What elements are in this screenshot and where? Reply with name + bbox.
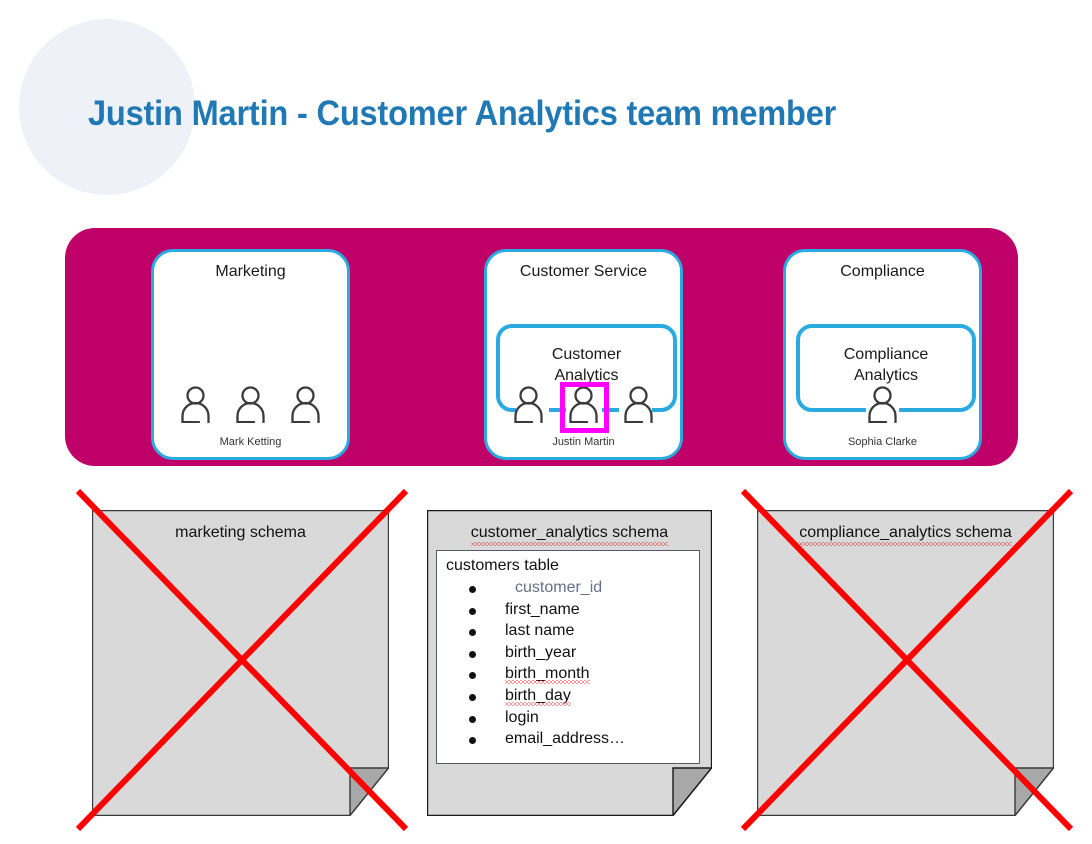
bullet-icon: [469, 672, 476, 679]
analytics-group-label: Customer Analytics: [500, 344, 673, 386]
people-row-compliance: [783, 386, 982, 423]
department-title: Marketing: [154, 263, 347, 281]
member-name-label: Sophia Clarke: [786, 436, 979, 448]
field-item[interactable]: last name: [437, 622, 699, 644]
schema-document-customer-analytics[interactable]: customer_analytics schema customers tabl…: [427, 510, 712, 816]
bullet-icon: [469, 716, 476, 723]
page-title: Justin Martin - Customer Analytics team …: [88, 88, 925, 140]
analytics-group-label-line1: Compliance: [844, 346, 928, 363]
field-item[interactable]: first_name: [437, 601, 699, 623]
field-item[interactable]: birth_year: [437, 644, 699, 666]
analytics-group-label-line2: Analytics: [854, 367, 918, 384]
department-card-marketing[interactable]: Marketing Mark Ketting: [151, 249, 350, 460]
field-label: birth_month: [505, 665, 590, 683]
bullet-icon: [469, 629, 476, 636]
schema-document-compliance-analytics[interactable]: compliance_analytics schema: [757, 510, 1054, 816]
document-title: marketing schema: [92, 524, 389, 542]
person-icon[interactable]: [512, 386, 545, 423]
department-title: Compliance: [786, 263, 979, 281]
document-title-text: customer_analytics schema: [471, 524, 668, 542]
document-title-text: compliance_analytics schema: [799, 524, 1012, 542]
field-item[interactable]: email_address…: [437, 730, 699, 752]
field-label: login: [505, 709, 539, 726]
field-label: birth_day: [505, 687, 571, 705]
bullet-icon: [469, 651, 476, 658]
person-icon[interactable]: [289, 386, 322, 423]
field-item[interactable]: birth_day: [437, 687, 699, 709]
slide-canvas: Justin Martin - Customer Analytics team …: [0, 0, 1092, 844]
field-label: email_address…: [505, 730, 625, 747]
document-page-shape: [92, 510, 389, 816]
document-title: customer_analytics schema: [427, 524, 712, 542]
table-name-label: customers table: [446, 557, 559, 575]
person-icon[interactable]: [622, 386, 655, 423]
analytics-group-label: Compliance Analytics: [800, 344, 972, 386]
field-label: first_name: [505, 601, 580, 618]
field-label: last name: [505, 622, 574, 639]
field-list: customer_id first_name last name birth_y…: [437, 579, 699, 752]
department-title: Customer Service: [487, 263, 680, 281]
people-row-marketing: [151, 386, 350, 423]
schema-document-marketing[interactable]: marketing schema: [92, 510, 389, 816]
member-name-label: Justin Martin: [487, 436, 680, 448]
document-title-text: marketing schema: [175, 524, 306, 541]
document-page-shape: [757, 510, 1054, 816]
field-item[interactable]: customer_id: [437, 579, 699, 601]
person-icon[interactable]: [866, 386, 899, 423]
analytics-group-label-line1: Customer: [552, 346, 621, 363]
department-card-compliance[interactable]: Compliance Compliance Analytics Sophia C…: [783, 249, 982, 460]
person-icon[interactable]: [179, 386, 212, 423]
person-icon[interactable]: [234, 386, 267, 423]
document-title: compliance_analytics schema: [757, 524, 1054, 542]
field-label: customer_id: [515, 579, 602, 596]
bullet-icon: [469, 694, 476, 701]
selected-member-highlight: [560, 382, 609, 433]
bullet-icon: [469, 737, 476, 744]
table-panel[interactable]: customers table customer_id first_name l…: [436, 550, 700, 764]
field-item[interactable]: login: [437, 709, 699, 731]
bullet-icon: [469, 608, 476, 615]
field-label: birth_year: [505, 644, 576, 661]
member-name-label: Mark Ketting: [154, 436, 347, 448]
field-item[interactable]: birth_month: [437, 665, 699, 687]
bullet-icon: [469, 586, 476, 593]
